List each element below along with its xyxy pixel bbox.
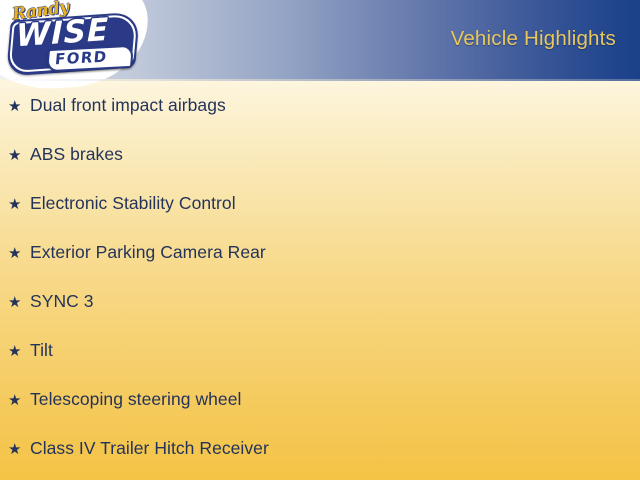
star-icon: ★ (8, 146, 30, 166)
list-item-label: Telescoping steering wheel (30, 389, 640, 409)
star-icon: ★ (8, 293, 30, 313)
star-icon: ★ (8, 342, 30, 362)
star-icon: ★ (8, 440, 30, 460)
star-icon: ★ (8, 244, 30, 264)
logo-wordmark-ford: FORD (54, 49, 108, 68)
vehicle-highlights-page: Randy WISE FORD Vehicle Highlights ★ Dua… (0, 0, 640, 480)
list-item: ★ SYNC 3 (0, 291, 640, 340)
list-item-label: Tilt (30, 340, 640, 360)
vehicle-highlights-list: ★ Dual front impact airbags ★ ABS brakes… (0, 81, 640, 480)
list-item: ★ ABS brakes (0, 144, 640, 193)
list-item: ★ Telescoping steering wheel (0, 389, 640, 438)
list-item-label: Electronic Stability Control (30, 193, 640, 213)
star-icon: ★ (8, 391, 30, 411)
list-item-label: ABS brakes (30, 144, 640, 164)
list-item: ★ Dual front impact airbags (0, 95, 640, 144)
page-title: Vehicle Highlights (451, 27, 616, 51)
list-item: ★ Class IV Trailer Hitch Receiver (0, 438, 640, 480)
list-item: ★ Electronic Stability Control (0, 193, 640, 242)
header-divider (0, 79, 640, 81)
list-item: ★ Tilt (0, 340, 640, 389)
list-item: ★ Exterior Parking Camera Rear (0, 242, 640, 291)
list-item-label: SYNC 3 (30, 291, 640, 311)
list-item-label: Class IV Trailer Hitch Receiver (30, 438, 640, 458)
list-item-label: Exterior Parking Camera Rear (30, 242, 640, 262)
header-bar: Randy WISE FORD Vehicle Highlights (0, 0, 640, 79)
star-icon: ★ (8, 195, 30, 215)
star-icon: ★ (8, 97, 30, 117)
list-item-label: Dual front impact airbags (30, 95, 640, 115)
dealer-logo[interactable]: Randy WISE FORD (0, 0, 142, 79)
